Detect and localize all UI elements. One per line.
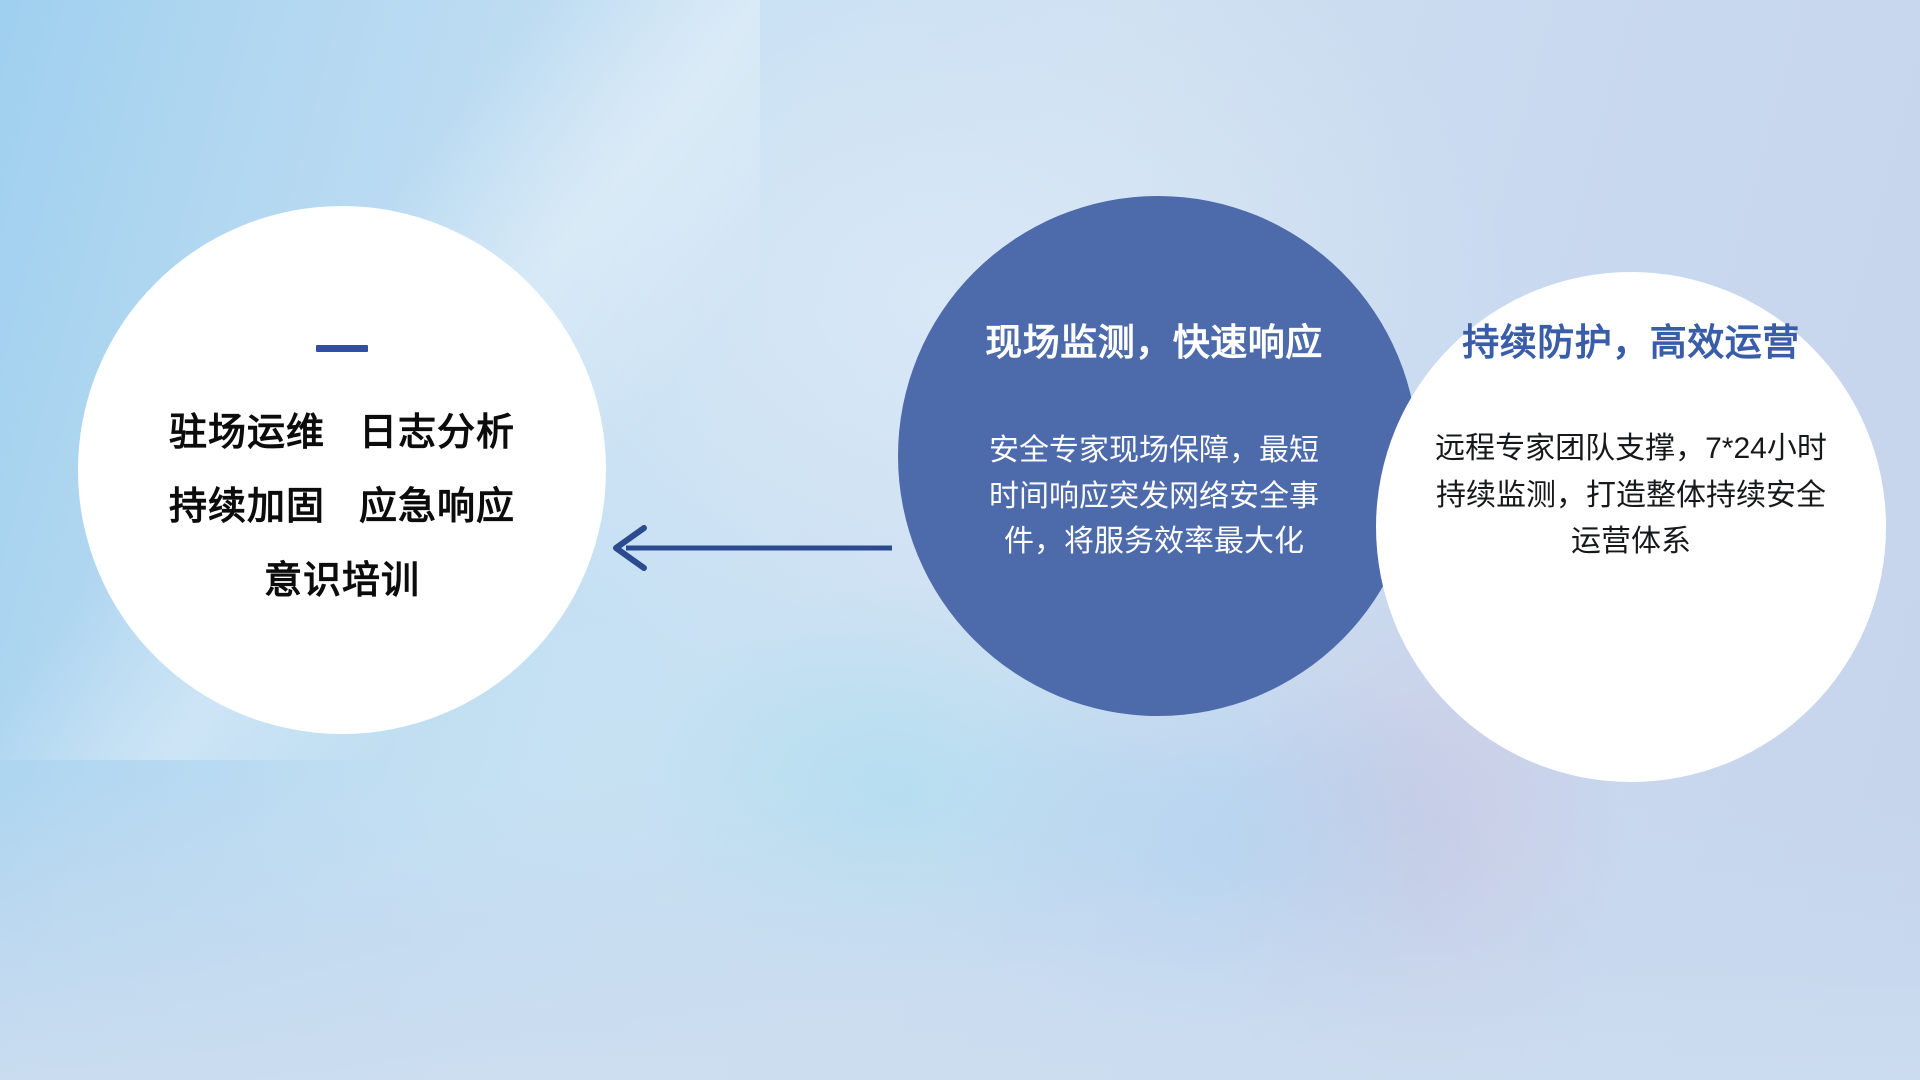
capability-circle-right[interactable]: 持续防护，高效运营 远程专家团队支撑，7*24小时持续监测，打造整体持续安全运营…: [1376, 272, 1886, 782]
divider-dash-icon: [316, 345, 368, 352]
keyword-label: 意识培训: [264, 562, 420, 600]
flow-arrow-left-icon: [596, 516, 896, 580]
middle-circle-body: 安全专家现场保障，最短时间响应突发网络安全事件，将服务效率最大化: [989, 428, 1319, 565]
keyword-label: 应急响应: [359, 488, 515, 526]
left-circle-content: 驻场运维 日志分析 持续加固 应急响应 意识培训: [78, 206, 606, 734]
middle-circle-title: 现场监测，快速响应: [985, 312, 1323, 366]
background-bottom-fade: [0, 780, 1920, 1080]
keyword-label: 驻场运维: [169, 414, 325, 452]
capability-circle-left[interactable]: 驻场运维 日志分析 持续加固 应急响应 意识培训: [78, 206, 606, 734]
keyword-row: 驻场运维 日志分析: [169, 414, 515, 452]
keyword-label: 持续加固: [169, 488, 325, 526]
capability-circle-middle[interactable]: 现场监测，快速响应 安全专家现场保障，最短时间响应突发网络安全事件，将服务效率最…: [898, 196, 1418, 716]
keyword-row: 持续加固 应急响应: [169, 488, 515, 526]
keyword-row: 意识培训: [264, 562, 420, 600]
middle-circle-content: 现场监测，快速响应 安全专家现场保障，最短时间响应突发网络安全事件，将服务效率最…: [898, 196, 1418, 716]
keyword-label: 日志分析: [359, 414, 515, 452]
right-circle-body: 远程专家团队支撑，7*24小时持续监测，打造整体持续安全运营体系: [1434, 426, 1828, 566]
right-circle-content: 持续防护，高效运营 远程专家团队支撑，7*24小时持续监测，打造整体持续安全运营…: [1376, 272, 1886, 782]
right-circle-title: 持续防护，高效运营: [1462, 312, 1800, 366]
